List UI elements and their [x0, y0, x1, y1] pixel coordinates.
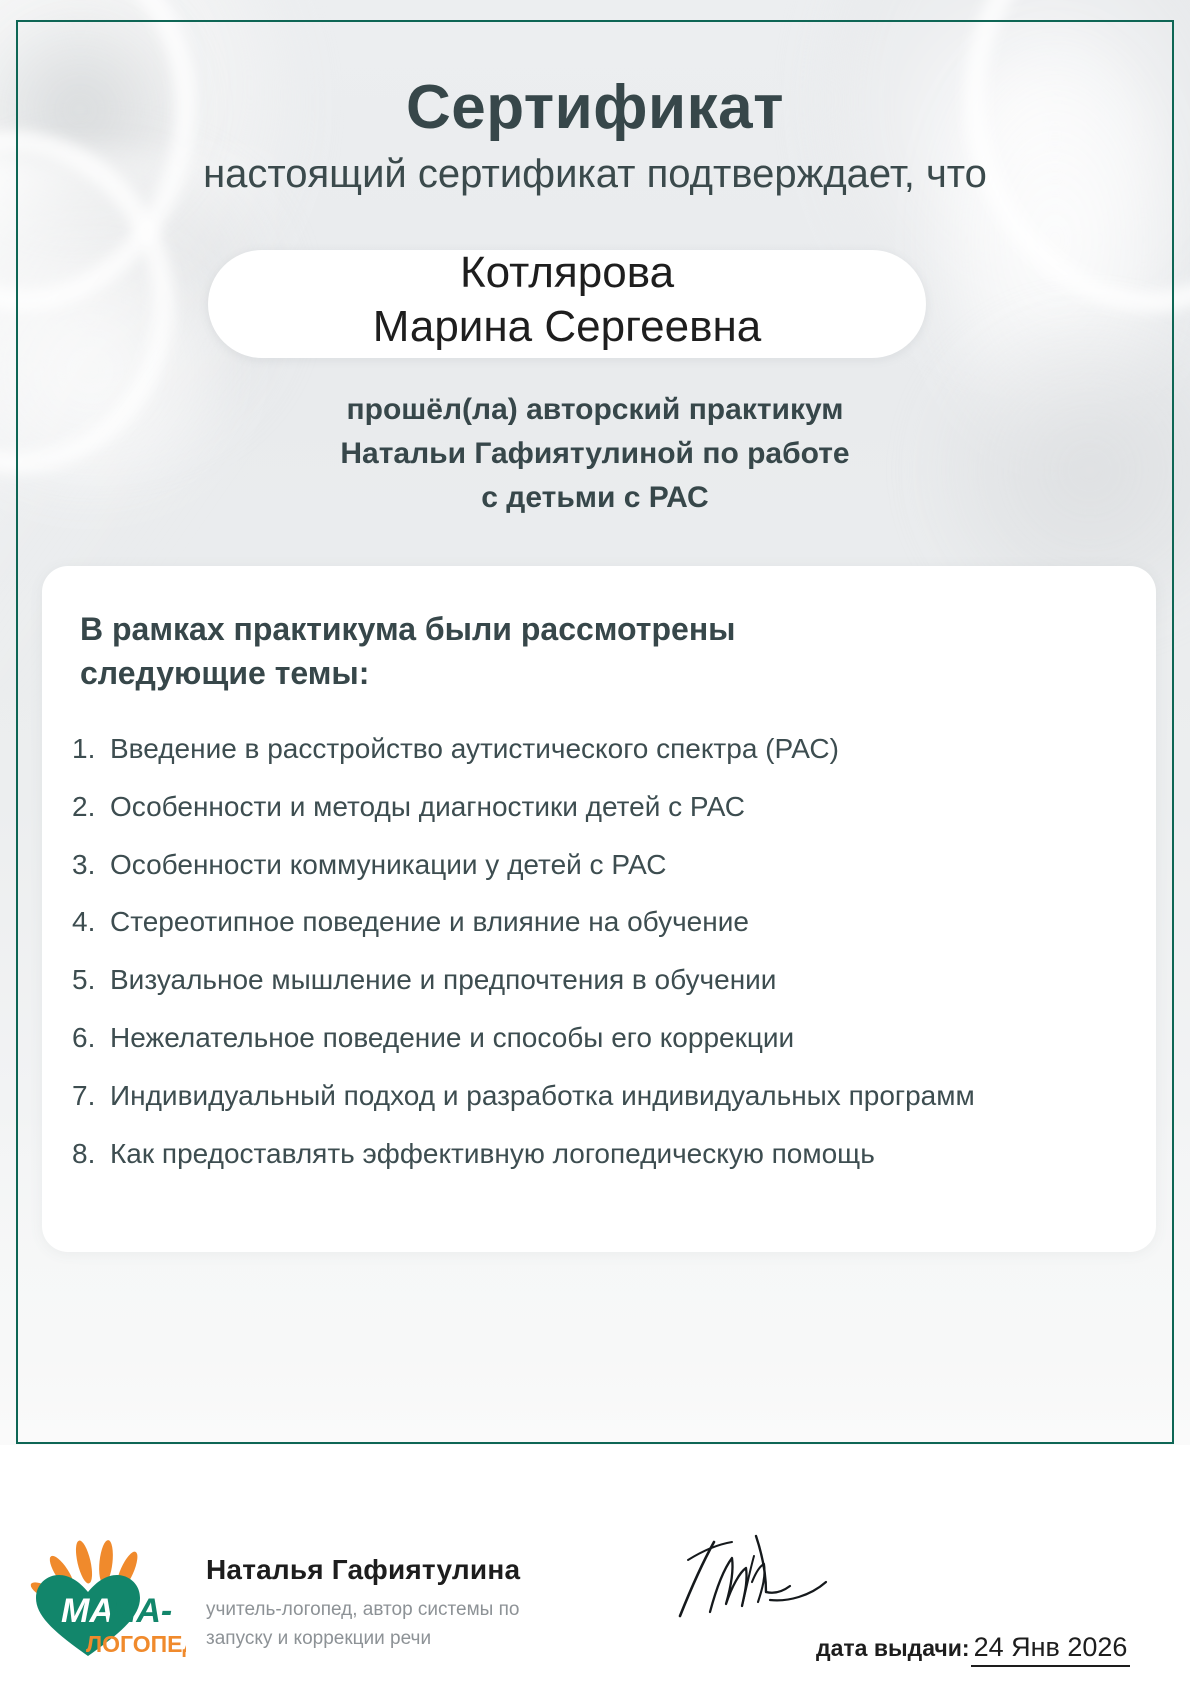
topic-number: 8.: [72, 1129, 110, 1179]
recipient-given-names: Марина Сергеевна: [208, 300, 926, 354]
topic-item: 7.Индивидуальный подход и разработка инд…: [72, 1071, 1092, 1129]
topic-number: 4.: [72, 897, 110, 947]
topic-text: Особенности и методы диагностики детей с…: [110, 782, 1092, 832]
page-subtitle: настоящий сертификат подтверждает, что: [0, 152, 1190, 197]
logo-text-bottom: ЛОГОПЕД: [86, 1631, 186, 1657]
topic-text: Визуальное мышление и предпочтения в обу…: [110, 955, 1092, 1005]
topic-text: Нежелательное поведение и способы его ко…: [110, 1013, 1092, 1063]
recipient-surname: Котлярова: [208, 246, 926, 300]
topic-number: 2.: [72, 782, 110, 832]
topic-number: 6.: [72, 1013, 110, 1063]
topic-item: 4.Стереотипное поведение и влияние на об…: [72, 897, 1092, 955]
mama-logoped-logo: МА МА- ЛОГОПЕД: [26, 1540, 186, 1666]
author-role-line-1: учитель-логопед, автор системы по: [206, 1596, 606, 1625]
topic-item: 5.Визуальное мышление и предпочтения в о…: [72, 955, 1092, 1013]
topic-text: Особенности коммуникации у детей с РАС: [110, 840, 1092, 890]
topic-number: 7.: [72, 1071, 110, 1121]
program-description: прошёл(ла) авторский практикум Натальи Г…: [0, 388, 1190, 519]
issue-date-row: дата выдачи: 24 Янв 2026: [816, 1632, 1130, 1667]
topic-number: 3.: [72, 840, 110, 890]
author-name: Наталья Гафиятулина: [206, 1554, 520, 1586]
topic-text: Индивидуальный подход и разработка индив…: [110, 1071, 1092, 1121]
topic-text: Как предоставлять эффективную логопедиче…: [110, 1129, 1092, 1179]
signature-image: [670, 1520, 900, 1630]
topic-number: 1.: [72, 724, 110, 774]
topics-heading: В рамках практикума были рассмотрены сле…: [80, 608, 980, 695]
topic-text: Введение в расстройство аутистического с…: [110, 724, 1092, 774]
certificate-page: Сертификат настоящий сертификат подтверж…: [0, 0, 1190, 1684]
logo-text-outside: МА-: [108, 1592, 172, 1630]
program-line-3: с детьми с РАС: [0, 476, 1190, 520]
topic-item: 8.Как предоставлять эффективную логопеди…: [72, 1129, 1092, 1187]
recipient-name: Котлярова Марина Сергеевна: [208, 246, 926, 353]
topics-heading-line-2: следующие темы:: [80, 652, 980, 696]
issue-date-label: дата выдачи:: [816, 1635, 970, 1662]
author-role: учитель-логопед, автор системы по запуск…: [206, 1596, 606, 1653]
certificate-footer: МА МА- ЛОГОПЕД Наталья Гафиятулина учите…: [0, 1446, 1190, 1684]
topics-list: 1.Введение в расстройство аутистического…: [72, 724, 1092, 1187]
page-title: Сертификат: [0, 72, 1190, 143]
author-role-line-2: запуску и коррекции речи: [206, 1625, 606, 1654]
issue-date-value: 24 Янв 2026: [971, 1632, 1131, 1667]
topic-text: Стереотипное поведение и влияние на обуч…: [110, 897, 1092, 947]
topic-item: 1.Введение в расстройство аутистического…: [72, 724, 1092, 782]
topic-number: 5.: [72, 955, 110, 1005]
topics-heading-line-1: В рамках практикума были рассмотрены: [80, 608, 980, 652]
topic-item: 3.Особенности коммуникации у детей с РАС: [72, 840, 1092, 898]
program-line-2: Натальи Гафиятулиной по работе: [0, 432, 1190, 476]
topic-item: 2.Особенности и методы диагностики детей…: [72, 782, 1092, 840]
logo-text-inside-heart: МА: [61, 1592, 114, 1630]
program-line-1: прошёл(ла) авторский практикум: [0, 388, 1190, 432]
topic-item: 6.Нежелательное поведение и способы его …: [72, 1013, 1092, 1071]
